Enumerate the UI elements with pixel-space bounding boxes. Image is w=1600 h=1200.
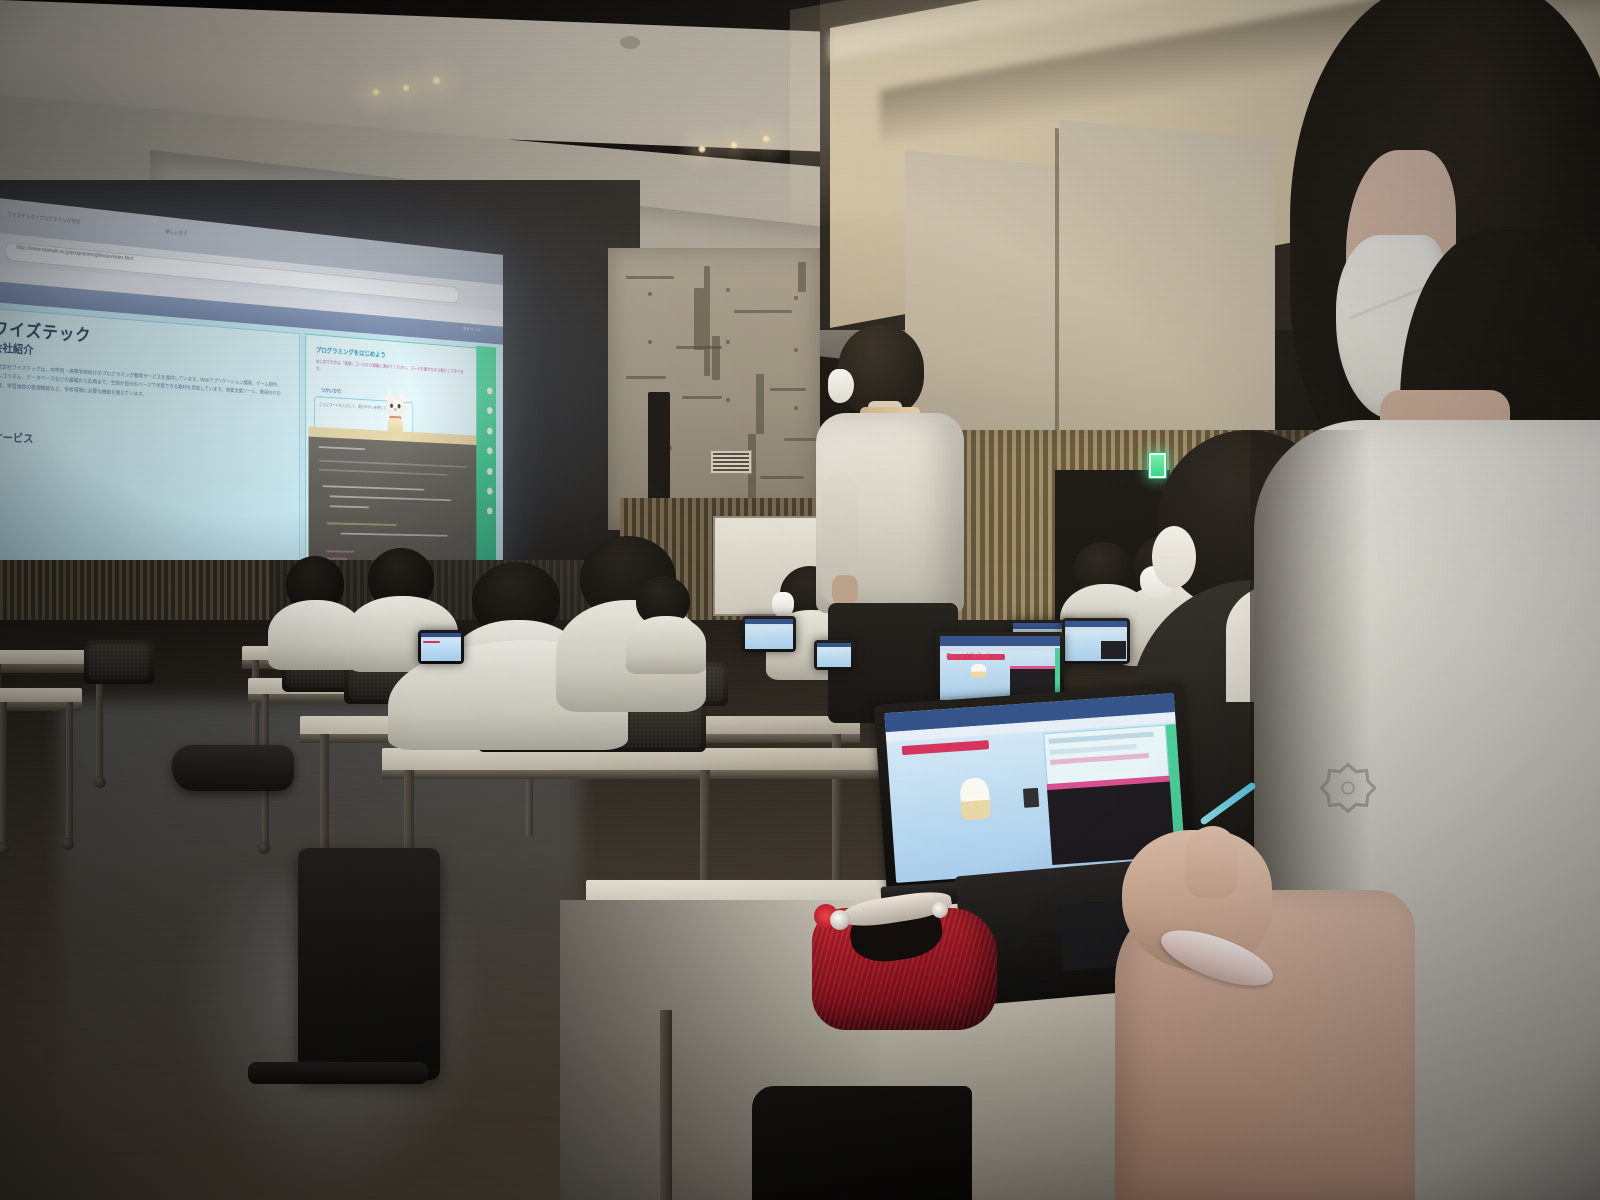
desk-leg <box>660 1010 672 1200</box>
ceiling-spot-light <box>730 141 738 149</box>
ceiling-spot-light <box>698 145 706 153</box>
desk-caster <box>94 776 106 788</box>
wall-panel-seam <box>1055 128 1059 478</box>
school-flower-emblem-icon <box>1320 760 1376 816</box>
rail-icon[interactable] <box>487 407 493 414</box>
desk-leg <box>0 702 7 847</box>
photo-scene: ワイズテック | プログラミング学習 新しいタブ https://www.exa… <box>0 0 1600 1200</box>
desk-leg <box>66 702 73 842</box>
rail-icon[interactable] <box>487 468 493 475</box>
page-left-column <box>0 308 300 584</box>
chair <box>84 640 154 684</box>
wall-mounted-dark-fixture <box>648 392 670 502</box>
laptop-screen-red-label: Sorry I failed <box>946 653 990 660</box>
rail-icon[interactable] <box>487 488 493 495</box>
laptop[interactable] <box>418 630 464 664</box>
projected-browser-window: ワイズテック | プログラミング学習 新しいタブ https://www.exa… <box>0 196 503 588</box>
projection-screen: ワイズテック | プログラミング学習 新しいタブ https://www.exa… <box>0 196 503 588</box>
teacher-hand <box>832 575 858 605</box>
wall-vent-grille <box>710 450 752 474</box>
laptop[interactable] <box>742 616 796 652</box>
lesson-card-subheading: つかいかた <box>321 386 342 395</box>
ceiling-spot-light <box>372 88 380 96</box>
laptop[interactable] <box>1062 618 1130 664</box>
rail-icon[interactable] <box>487 427 493 434</box>
dark-object-foreground <box>752 1086 972 1200</box>
rail-icon[interactable] <box>487 508 493 515</box>
pouch-eye-icon <box>830 910 850 930</box>
desk-caster <box>258 842 270 854</box>
pouch-eye-icon <box>932 902 948 918</box>
page-section-heading-2: サービス <box>0 429 34 447</box>
ceiling-spot-light <box>432 76 441 85</box>
laptop[interactable] <box>814 640 854 670</box>
backpack[interactable] <box>298 848 440 1080</box>
red-knitted-pouch[interactable] <box>812 880 997 1030</box>
rail-icon[interactable] <box>487 387 493 394</box>
ceiling-smoke-detector <box>620 36 640 49</box>
desk-caster <box>62 838 74 850</box>
app-side-rail <box>476 346 496 583</box>
ceiling-spot-light <box>762 135 770 143</box>
floor-bag[interactable] <box>172 745 294 791</box>
student <box>626 576 706 668</box>
laptop-screen <box>940 636 1060 700</box>
rail-icon[interactable] <box>487 447 493 454</box>
page-section-heading-1: 会社紹介 <box>0 339 34 358</box>
backpack-handle[interactable] <box>248 1062 428 1084</box>
thumb <box>1185 826 1237 898</box>
exposed-concrete-wall <box>608 248 820 530</box>
